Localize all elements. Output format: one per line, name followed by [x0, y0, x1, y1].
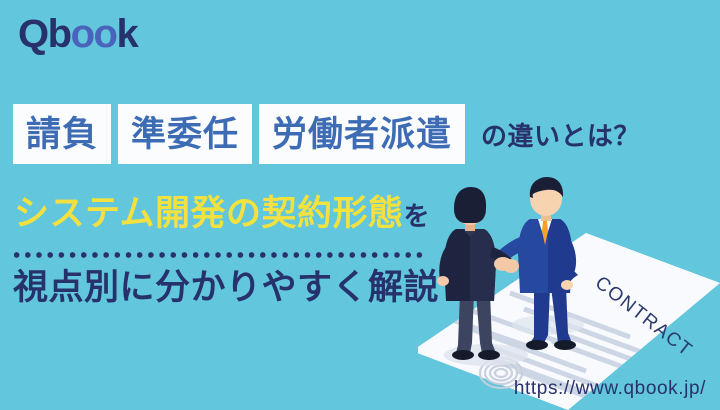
keyword-row: 請負 準委任 労働者派遣 の違いとは？	[13, 104, 640, 164]
headline-highlight-text: システム開発の契約形態	[14, 194, 403, 233]
logo-letters-oo: oo	[71, 12, 117, 56]
headline-line-3: 視点別に分かりやすく解説	[13, 270, 439, 305]
qbook-logo[interactable]: Qbook	[18, 14, 137, 54]
promo-banner: Qbook 請負 準委任 労働者派遣 の違いとは？ システム開発の契約形態を 視…	[0, 0, 720, 410]
keyword-label-ukeoi: 請負	[26, 117, 98, 152]
keyword-box-haken: 労働者派遣	[259, 104, 465, 164]
headline-line-2: システム開発の契約形態を	[14, 196, 429, 231]
handshake-contract-illustration: CONTRACT	[418, 175, 720, 410]
keyword-suffix-text: の違いとは？	[472, 104, 640, 164]
keyword-label-junin: 準委任	[131, 117, 239, 152]
keyword-label-haken: 労働者派遣	[272, 117, 452, 152]
logo-letter-b: b	[48, 12, 71, 56]
site-url[interactable]: https://www.qbook.jp/	[514, 379, 706, 398]
dotted-divider	[14, 252, 426, 258]
keyword-box-ukeoi: 請負	[13, 104, 111, 164]
keyword-box-junin: 準委任	[118, 104, 252, 164]
logo-letter-q: Q	[18, 12, 48, 56]
handshake-point	[494, 257, 512, 271]
logo-letter-k: k	[116, 12, 137, 56]
